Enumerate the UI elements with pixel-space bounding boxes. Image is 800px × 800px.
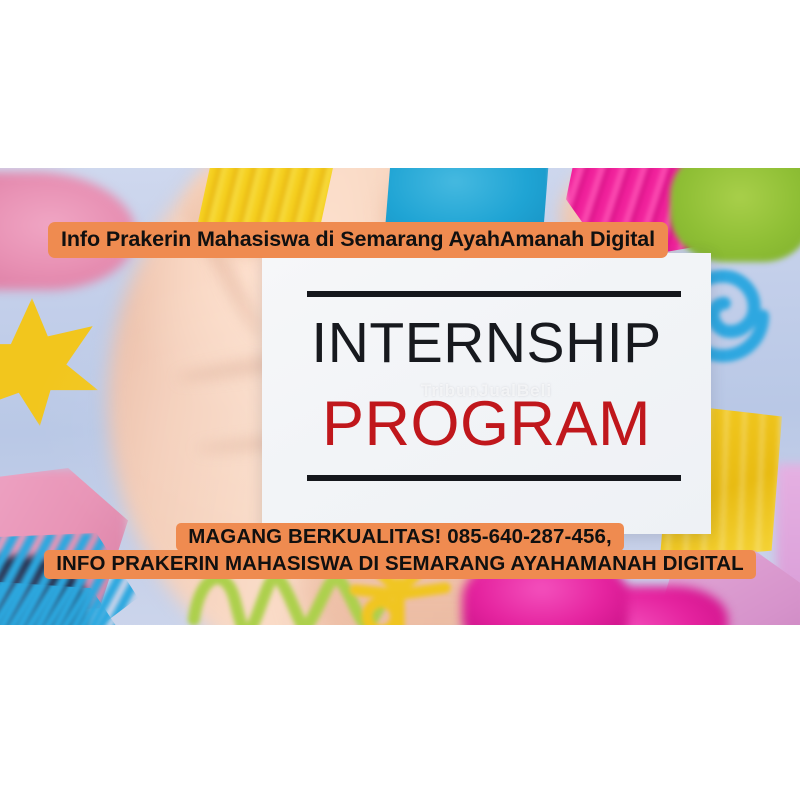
internship-program-card: TribunJualBeli INTERNSHIP PROGRAM <box>262 253 711 534</box>
card-divider-top <box>307 291 681 297</box>
bottom-caption-row-2: INFO PRAKERIN MAHASISWA DI SEMARANG AYAH… <box>0 551 800 578</box>
card-title: INTERNSHIP <box>262 315 711 372</box>
card-subtitle: PROGRAM <box>262 393 711 456</box>
bottom-caption-row-1: MAGANG BERKUALITAS! 085-640-287-456, <box>0 523 800 551</box>
bottom-caption-line-1: MAGANG BERKUALITAS! 085-640-287-456, <box>176 523 624 551</box>
card-divider-bottom <box>307 475 681 481</box>
top-caption-banner: Info Prakerin Mahasiswa di Semarang Ayah… <box>48 222 668 258</box>
bottom-caption-line-2: INFO PRAKERIN MAHASISWA DI SEMARANG AYAH… <box>44 550 756 578</box>
bottom-caption-banner: MAGANG BERKUALITAS! 085-640-287-456, INF… <box>0 523 800 579</box>
listing-image: TribunJualBeli INTERNSHIP PROGRAM Info P… <box>0 0 800 800</box>
yellow-starburst-icon <box>0 298 98 426</box>
